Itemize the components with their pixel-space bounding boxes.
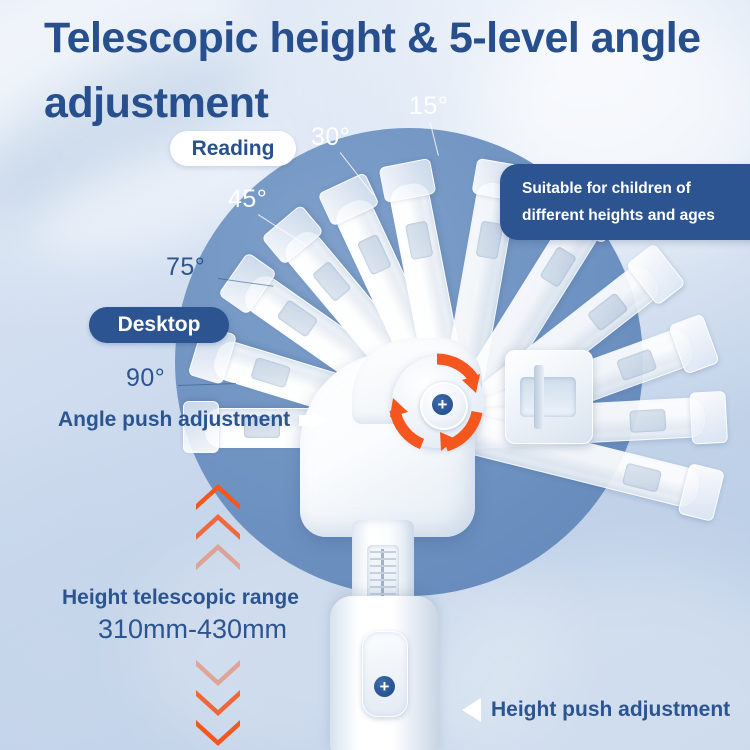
badge-reading: Reading (170, 131, 296, 166)
chevron-down-icon (196, 660, 240, 686)
chevron-up-icon (196, 514, 240, 540)
badge-desktop: Desktop (89, 307, 229, 343)
angle-label-90: 90° (126, 364, 165, 393)
page-title: Telescopic height & 5-level angle adjust… (44, 6, 744, 136)
chevron-down-icon (196, 720, 240, 746)
push-button-plus-glyph: + (380, 678, 390, 695)
knob-plus-glyph: + (438, 396, 448, 413)
height-push-button[interactable] (362, 631, 408, 717)
page-title-line1: Telescopic height & 5-level angle (44, 14, 701, 62)
angle-label-75: 75° (166, 253, 205, 282)
chevron-up-icon (196, 544, 240, 570)
angle-label-45: 45° (228, 185, 267, 214)
caption-angle-push: Angle push adjustment (58, 408, 329, 432)
callout-line2: different heights and ages (522, 202, 750, 229)
callout-box: Suitable for children of different heigh… (500, 164, 750, 240)
product-feature-image: + + 15° 30° 45° 75° 90° Telescopic heigh… (0, 0, 750, 750)
push-button-plus-icon[interactable]: + (374, 676, 395, 697)
chevron-down-icon (196, 690, 240, 716)
caption-angle-push-text: Angle push adjustment (58, 408, 290, 432)
callout-line1: Suitable for children of (522, 175, 750, 202)
arrow-right-icon (299, 412, 329, 429)
caption-height-push-text: Height push adjustment (491, 698, 730, 722)
chevrons-up-group (196, 484, 240, 576)
chevron-up-icon (196, 484, 240, 510)
page-title-line2: adjustment (44, 71, 744, 136)
chevrons-down-group (196, 660, 240, 750)
caption-height-range-label: Height telescopic range (62, 586, 299, 610)
arrow-left-icon (462, 698, 481, 722)
hinge-bracket (505, 350, 593, 444)
knob-plus-icon[interactable]: + (432, 394, 453, 415)
caption-height-range-value: 310mm-430mm (98, 614, 287, 645)
caption-height-push: Height push adjustment (462, 698, 730, 722)
